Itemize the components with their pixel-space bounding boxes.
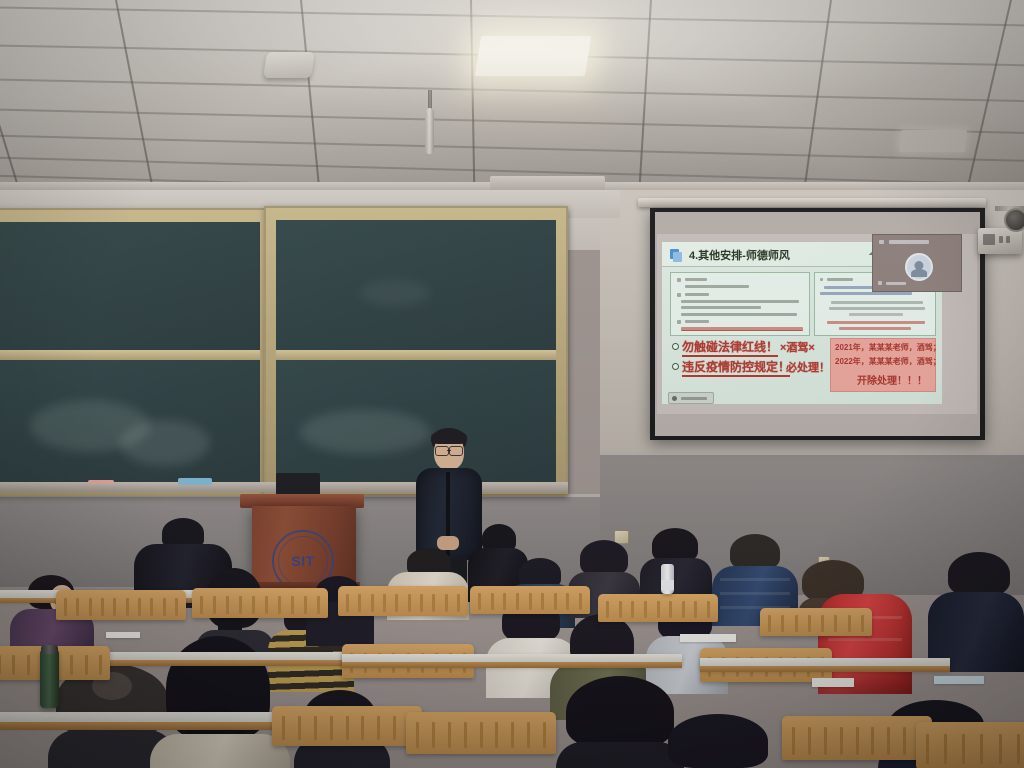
presentation-slide: 4.其他安排-师德师风 ☁ 机 bbox=[657, 234, 977, 414]
thermos-cap bbox=[41, 645, 58, 654]
handout-paper-2 bbox=[812, 678, 854, 687]
user-avatar-icon bbox=[905, 253, 933, 281]
meeting-pip-window[interactable] bbox=[872, 234, 962, 292]
sit-logo-text: SIT bbox=[291, 553, 314, 569]
projection-screen-surface: 4.其他安排-师德师风 ☁ 机 bbox=[655, 212, 980, 436]
warning-emphasis-2: 必处理！ bbox=[786, 359, 830, 375]
slide-title: 4.其他安排-师德师风 bbox=[689, 247, 790, 263]
green-thermos bbox=[40, 650, 59, 708]
presenter-glasses bbox=[435, 446, 463, 454]
blackboard-divider-left bbox=[0, 350, 260, 360]
pip-status-text bbox=[886, 282, 906, 285]
red-panel-line-1: 2021年，某某某老师，酒驾； bbox=[835, 342, 941, 353]
handout-paper-3 bbox=[106, 632, 140, 638]
red-panel-line-3: 开除处理！！！ bbox=[857, 372, 927, 387]
screen-roller-bar bbox=[638, 198, 986, 207]
blackboard-divider-right bbox=[276, 350, 556, 360]
audience-member-right-edge bbox=[928, 552, 1024, 672]
warning-line-1: 勿触碰法律红线！ bbox=[682, 338, 778, 357]
handout-paper-4 bbox=[934, 676, 984, 684]
ceiling bbox=[0, 0, 1024, 196]
slide-doc-icon bbox=[670, 249, 679, 259]
lecture-hall-photo: 4.其他安排-师德师风 ☁ 机 bbox=[0, 0, 1024, 768]
chalk-eraser bbox=[178, 478, 212, 485]
warning-line-2: 违反疫情防控规定！ bbox=[682, 358, 790, 377]
warning-emphasis-1: ×酒驾× bbox=[780, 339, 815, 355]
handout-paper-1 bbox=[680, 634, 736, 642]
slide-left-box bbox=[670, 272, 810, 336]
chalk-piece bbox=[88, 480, 114, 484]
projector-lens-icon bbox=[1004, 208, 1024, 232]
slide-red-warning-panel: 2021年，某某某老师，酒驾； 2022年，某某某老师，酒驾； 开除处理！！！ bbox=[830, 338, 936, 392]
pip-title-text bbox=[889, 240, 929, 244]
bottle-label bbox=[661, 580, 674, 590]
red-panel-line-2: 2022年，某某某老师，酒驾； bbox=[835, 356, 941, 367]
slide-footer-tag[interactable] bbox=[668, 392, 714, 404]
blackboard-panel-top-left bbox=[0, 222, 260, 350]
audience-member-front-right bbox=[660, 714, 778, 768]
